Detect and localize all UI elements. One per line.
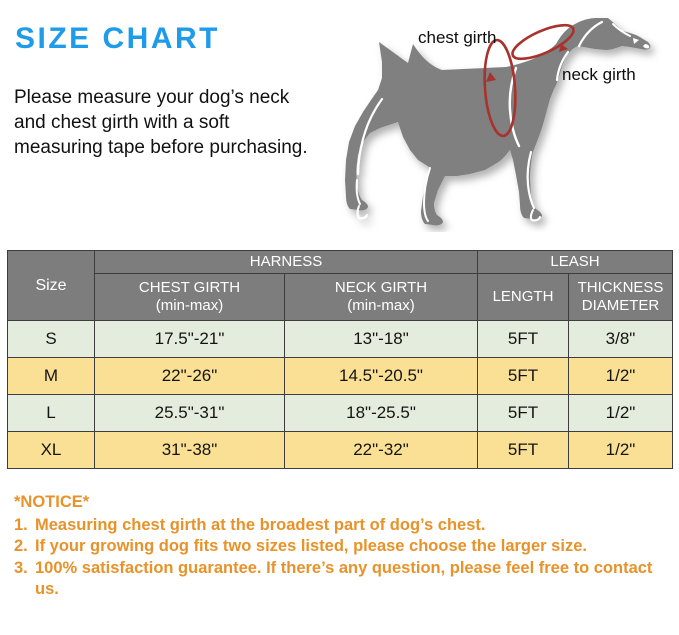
notice-list: 1. Measuring chest girth at the broadest… xyxy=(14,515,674,601)
cell-chest: 22"-26" xyxy=(95,358,285,395)
chest-girth-label: chest girth xyxy=(418,28,496,48)
header-chest-girth: CHEST GIRTH (min-max) xyxy=(95,274,285,321)
table-header-sub-row: CHEST GIRTH (min-max) NECK GIRTH (min-ma… xyxy=(8,274,673,321)
notice-item-number: 2. xyxy=(14,536,35,558)
cell-chest: 25.5"-31" xyxy=(95,395,285,432)
cell-length: 5FT xyxy=(478,432,569,469)
header-harness: HARNESS xyxy=(95,251,478,274)
notice-heading: *NOTICE* xyxy=(14,492,674,514)
cell-neck: 18"-25.5" xyxy=(285,395,478,432)
cell-neck: 13"-18" xyxy=(285,321,478,358)
header-leash: LEASH xyxy=(478,251,673,274)
table-row: L 25.5"-31" 18"-25.5" 5FT 1/2" xyxy=(8,395,673,432)
cell-neck: 22"-32" xyxy=(285,432,478,469)
cell-neck: 14.5"-20.5" xyxy=(285,358,478,395)
dog-measurement-illustration: chest girth neck girth xyxy=(330,0,679,232)
table-row: XL 31"-38" 22"-32" 5FT 1/2" xyxy=(8,432,673,469)
cell-size: L xyxy=(8,395,95,432)
notice-item-text: Measuring chest girth at the broadest pa… xyxy=(35,515,674,537)
notice-item-text: If your growing dog fits two sizes liste… xyxy=(35,536,674,558)
header-neck-girth: NECK GIRTH (min-max) xyxy=(285,274,478,321)
notice-item-text: 100% satisfaction guarantee. If there’s … xyxy=(35,558,674,601)
dog-body-shape xyxy=(345,18,650,225)
table-row: S 17.5"-21" 13"-18" 5FT 3/8" xyxy=(8,321,673,358)
notice-item-number: 1. xyxy=(14,515,35,537)
header-thickness-title: THICKNESS xyxy=(569,279,672,297)
cell-length: 5FT xyxy=(478,358,569,395)
cell-length: 5FT xyxy=(478,321,569,358)
cell-thickness: 3/8" xyxy=(569,321,673,358)
notice-block: *NOTICE* 1. Measuring chest girth at the… xyxy=(14,492,674,601)
table-row: M 22"-26" 14.5"-20.5" 5FT 1/2" xyxy=(8,358,673,395)
cell-length: 5FT xyxy=(478,395,569,432)
cell-size: M xyxy=(8,358,95,395)
notice-item: 2. If your growing dog fits two sizes li… xyxy=(14,536,674,558)
header-leash-thickness: THICKNESS DIAMETER xyxy=(569,274,673,321)
header-neck-girth-range: (min-max) xyxy=(285,297,477,315)
cell-thickness: 1/2" xyxy=(569,395,673,432)
cell-chest: 17.5"-21" xyxy=(95,321,285,358)
cell-thickness: 1/2" xyxy=(569,358,673,395)
cell-size: XL xyxy=(8,432,95,469)
header-leash-length: LENGTH xyxy=(478,274,569,321)
header-diameter-title: DIAMETER xyxy=(569,297,672,315)
table-header: Size HARNESS LEASH CHEST GIRTH (min-max)… xyxy=(8,251,673,321)
table-header-group-row: Size HARNESS LEASH xyxy=(8,251,673,274)
table-body: S 17.5"-21" 13"-18" 5FT 3/8" M 22"-26" 1… xyxy=(8,321,673,469)
cell-chest: 31"-38" xyxy=(95,432,285,469)
notice-item: 3. 100% satisfaction guarantee. If there… xyxy=(14,558,674,601)
page-title: SIZE CHART xyxy=(15,22,220,56)
cell-size: S xyxy=(8,321,95,358)
header-neck-girth-title: NECK GIRTH xyxy=(285,279,477,297)
intro-paragraph: Please measure your dog’s neck and chest… xyxy=(14,85,314,160)
dog-silhouette-icon xyxy=(330,0,679,232)
size-chart-table: Size HARNESS LEASH CHEST GIRTH (min-max)… xyxy=(7,250,673,469)
header-size: Size xyxy=(8,251,95,321)
neck-girth-label: neck girth xyxy=(562,65,636,85)
header-chest-girth-range: (min-max) xyxy=(95,297,284,315)
header-chest-girth-title: CHEST GIRTH xyxy=(95,279,284,297)
notice-item: 1. Measuring chest girth at the broadest… xyxy=(14,515,674,537)
notice-item-number: 3. xyxy=(14,558,35,580)
cell-thickness: 1/2" xyxy=(569,432,673,469)
